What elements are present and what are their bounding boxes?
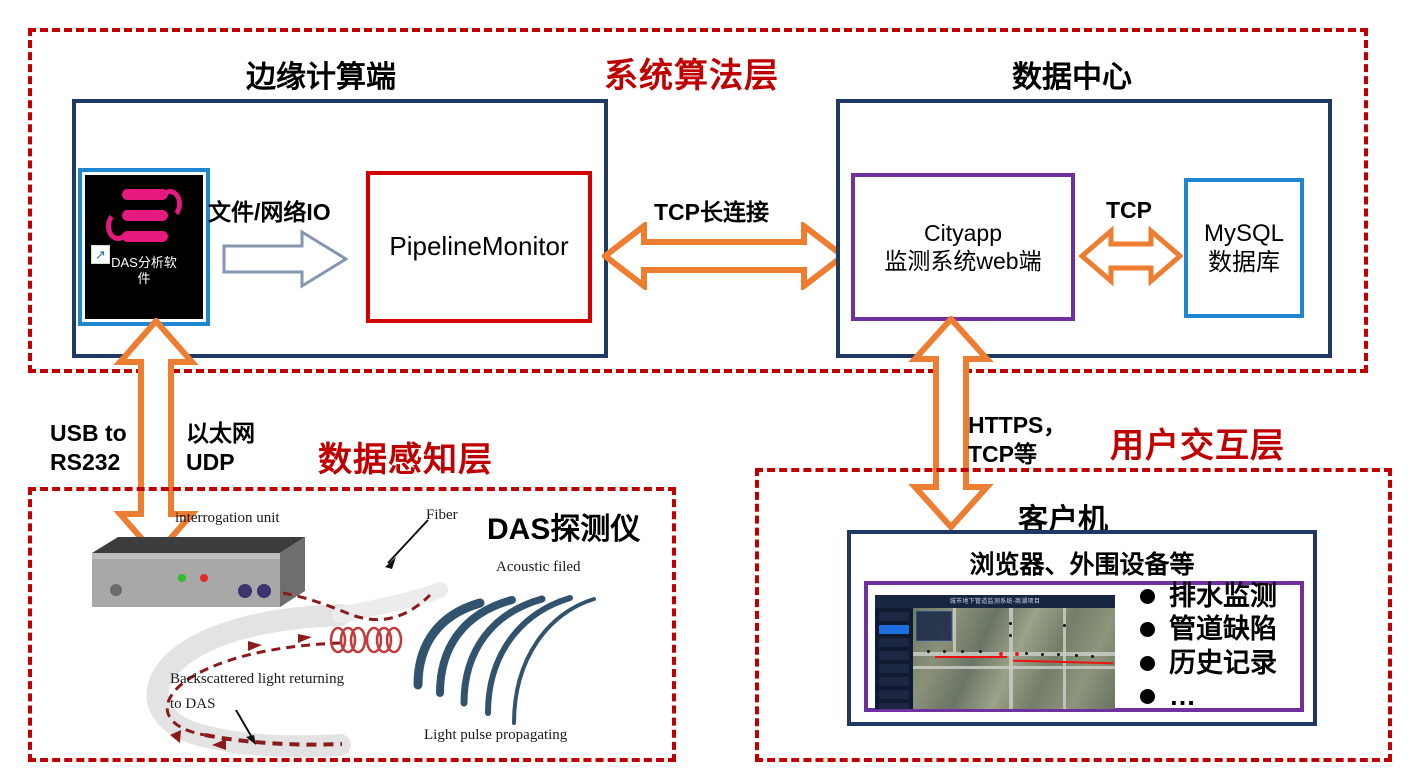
das-detector-illustration: interrogation unit Fiber Acoustic filed … (40, 495, 668, 760)
browser-title-text: 浏览器、外围设备等 (969, 551, 1194, 579)
label-interrogation-unit: interrogation unit (175, 510, 280, 527)
list-item-label: 排水监测 (1169, 581, 1277, 612)
client-feature-list: 排水监测 管道缺陷 历史记录 … (1140, 589, 1300, 704)
group-title-edge: 边缘计算端 (246, 52, 396, 96)
mini-satellite-map (913, 608, 1115, 709)
browser-section-title: 浏览器、外围设备等 (847, 545, 1317, 581)
component-cityapp[interactable]: Cityapp 监测系统web端 (851, 173, 1075, 321)
label-backscattered-line1: Backscattered light returning (170, 671, 344, 688)
mini-sidebar-item (879, 651, 909, 660)
label-fiber: Fiber (426, 507, 458, 524)
monitoring-web-app-screenshot[interactable]: 城市地下管道监测系统-商湖项目 (875, 595, 1115, 709)
layer-title-algorithm: 系统算法层 (604, 48, 779, 97)
layer-title-sensing: 数据感知层 (318, 432, 493, 481)
mini-sidebar-item (879, 638, 909, 647)
https-tcp-line2: TCP等 (968, 440, 1066, 469)
mini-sidebar-item (879, 612, 909, 621)
list-item: 历史记录 (1140, 648, 1300, 679)
mini-titlebar-text: 城市地下管道监测系统-商湖项目 (875, 596, 1115, 605)
das-software-icon-body: ↗ DAS分析软 件 (85, 175, 203, 319)
das-pipeline-glyph (108, 187, 180, 249)
https-tcp-line1: HTTPS， (968, 411, 1066, 440)
mini-sidebar-item-active (879, 625, 909, 634)
das-software-icon-tile[interactable]: ↗ DAS分析软 件 (78, 168, 210, 326)
usb-rs232-line1: USB to (50, 419, 127, 448)
component-mysql-line1: MySQL (1204, 219, 1284, 248)
component-pipeline-monitor-label: PipelineMonitor (389, 231, 568, 263)
connection-label-file-io: 文件/网络IO (208, 198, 331, 227)
connection-label-ethernet-udp: 以太网 UDP (186, 419, 255, 477)
bullet-icon (1140, 622, 1155, 637)
ethernet-line2: UDP (186, 448, 255, 477)
label-light-pulse: Light pulse propagating (424, 727, 567, 744)
file-io-arrow-icon (222, 228, 348, 290)
label-backscattered-line2: to DAS (170, 696, 215, 713)
list-item: 排水监测 (1140, 581, 1300, 612)
list-item: … (1140, 681, 1300, 712)
tcp-long-double-arrow-icon (602, 222, 846, 290)
connection-label-https-tcp: HTTPS， TCP等 (968, 411, 1066, 469)
list-item-label: 管道缺陷 (1169, 614, 1277, 645)
connection-label-tcp: TCP (1106, 196, 1152, 225)
mini-sidebar-item (879, 664, 909, 673)
usb-rs232-line2: RS232 (50, 448, 127, 477)
group-title-data-center: 数据中心 (1012, 52, 1132, 96)
list-item: 管道缺陷 (1140, 614, 1300, 645)
component-cityapp-line2: 监测系统web端 (884, 247, 1041, 275)
connection-label-usb-rs232: USB to RS232 (50, 419, 127, 477)
component-cityapp-line1: Cityapp (924, 219, 1002, 247)
das-arc-left (106, 211, 130, 241)
das-arc-right (158, 189, 182, 219)
component-pipeline-monitor[interactable]: PipelineMonitor (366, 171, 592, 323)
tcp-double-arrow-icon (1079, 226, 1183, 286)
bullet-icon (1140, 589, 1155, 604)
mini-titlebar: 城市地下管道监测系统-商湖项目 (875, 595, 1115, 608)
component-mysql-line2: 数据库 (1208, 248, 1280, 277)
list-item-label: … (1169, 681, 1196, 712)
bullet-icon (1140, 689, 1155, 704)
layer-title-user: 用户交互层 (1110, 418, 1285, 467)
shortcut-overlay-icon: ↗ (91, 245, 110, 264)
mini-sidebar-item (879, 677, 909, 686)
component-mysql[interactable]: MySQL 数据库 (1184, 178, 1304, 318)
mini-sidebar-item (879, 703, 909, 709)
mini-sidebar (875, 608, 913, 709)
list-item-label: 历史记录 (1169, 648, 1277, 679)
das-software-caption-line2: 件 (90, 271, 199, 287)
mini-sidebar-item (879, 690, 909, 699)
bullet-icon (1140, 656, 1155, 671)
ethernet-line1: 以太网 (186, 419, 255, 448)
architecture-diagram: 系统算法层 边缘计算端 ↗ DAS分析软 件 文件/网络IO PipelineM… (0, 0, 1409, 776)
label-acoustic-field: Acoustic filed (496, 559, 581, 576)
mini-map-overlay-panel (916, 611, 952, 641)
